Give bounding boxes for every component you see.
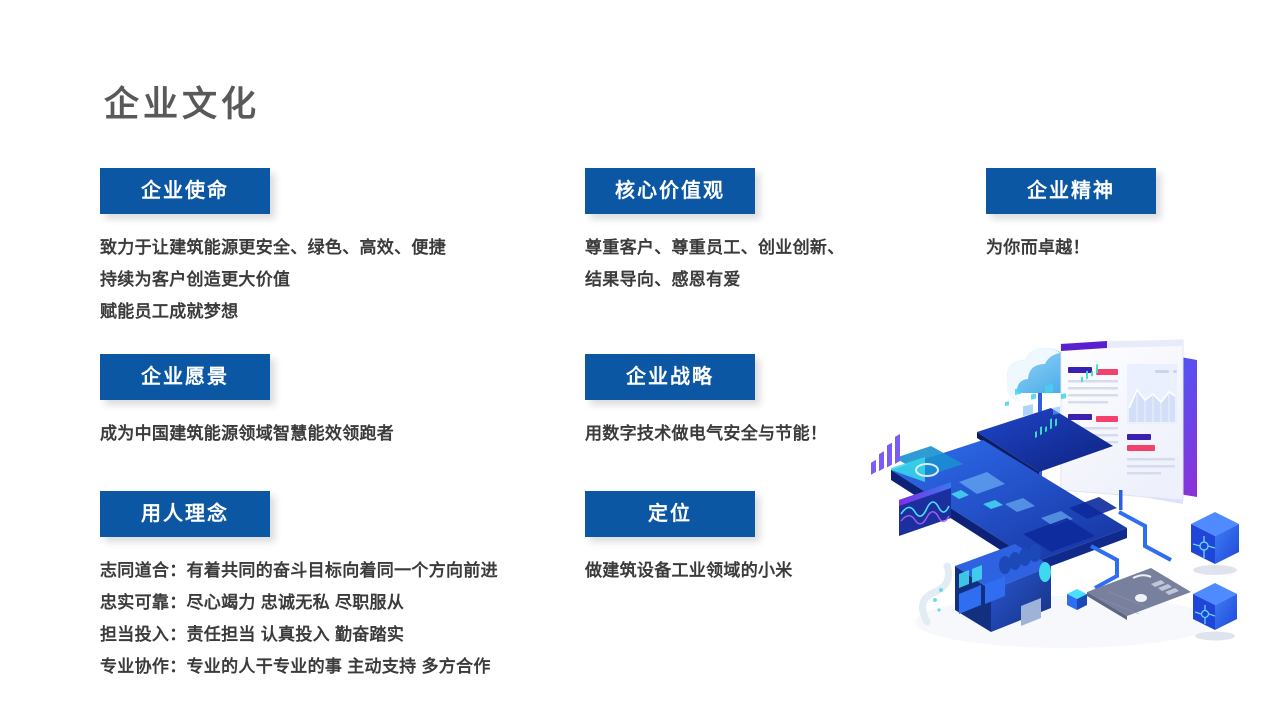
circuit-board-platform-main bbox=[891, 364, 1127, 572]
bar-chart bbox=[871, 434, 963, 482]
section-spirit-badge[interactable]: 企业精神 bbox=[986, 168, 1156, 214]
section-strategy-line-1: 用数字技术做电气安全与节能！ bbox=[585, 418, 827, 450]
screen-bottom-block bbox=[1127, 434, 1175, 475]
section-talent-text: 志同道合：有着共同的奋斗目标向着同一个方向前进 忠实可靠：尽心竭力 忠诚无私 尽… bbox=[100, 555, 498, 683]
analysis-detail bbox=[916, 383, 965, 476]
section-strategy: 企业战略 用数字技术做电气安全与节能！ bbox=[585, 354, 827, 450]
section-talent-line-1: 志同道合：有着共同的奋斗目标向着同一个方向前进 bbox=[100, 555, 498, 587]
slide-root: 企业文化 企业使命 致力于让建筑能源更安全、绿色、高效、便捷 持续为客户创造更大… bbox=[0, 0, 1280, 720]
network-glyph-lower bbox=[1195, 605, 1215, 624]
data-stream bbox=[923, 566, 949, 622]
screen-left-column bbox=[1068, 367, 1118, 451]
section-mission-line-1: 致力于让建筑能源更安全、绿色、高效、便捷 bbox=[100, 232, 446, 264]
section-spirit: 企业精神 为你而卓越！ bbox=[986, 168, 1156, 264]
section-mission-line-3: 赋能员工成就梦想 bbox=[100, 296, 446, 328]
section-mission-text: 致力于让建筑能源更安全、绿色、高效、便捷 持续为客户创造更大价值 赋能员工成就梦… bbox=[100, 232, 446, 328]
line-chart-panel bbox=[1127, 364, 1177, 424]
cloud-icon bbox=[1007, 348, 1081, 493]
glow-cube bbox=[1067, 589, 1087, 610]
section-values-line-1: 尊重客户、尊重员工、创业创新、 bbox=[585, 232, 845, 264]
section-vision-line-1: 成为中国建筑能源领域智慧能效领跑者 bbox=[100, 418, 394, 450]
mini-chart-2 bbox=[1081, 364, 1098, 383]
network-cube-upper bbox=[1191, 512, 1239, 575]
dashboard-screen bbox=[1061, 340, 1197, 510]
section-talent-badge[interactable]: 用人理念 bbox=[100, 491, 270, 537]
section-strategy-badge[interactable]: 企业战略 bbox=[585, 354, 755, 400]
section-positioning-text: 做建筑设备工业领域的小米 bbox=[585, 555, 793, 587]
section-spirit-line-1: 为你而卓越！ bbox=[986, 232, 1156, 264]
section-vision-badge[interactable]: 企业愿景 bbox=[100, 354, 270, 400]
server-modules bbox=[959, 565, 1005, 614]
section-mission: 企业使命 致力于让建筑能源更安全、绿色、高效、便捷 持续为客户创造更大价值 赋能… bbox=[100, 168, 446, 328]
section-strategy-text: 用数字技术做电气安全与节能！ bbox=[585, 418, 827, 450]
section-vision-text: 成为中国建筑能源领域智慧能效领跑者 bbox=[100, 418, 394, 450]
network-glyph-upper bbox=[1193, 536, 1215, 558]
waveform-chart bbox=[899, 482, 951, 536]
section-positioning: 定位 做建筑设备工业领域的小米 bbox=[585, 491, 793, 587]
section-talent-line-4: 专业协作：专业的人干专业的事 主动支持 多方合作 bbox=[100, 651, 498, 683]
section-values: 核心价值观 尊重客户、尊重员工、创业创新、 结果导向、感恩有爱 bbox=[585, 168, 845, 296]
section-vision: 企业愿景 成为中国建筑能源领域智慧能效领跑者 bbox=[100, 354, 394, 450]
network-cube-lower bbox=[1193, 583, 1237, 641]
section-mission-line-2: 持续为客户创造更大价值 bbox=[100, 264, 446, 296]
section-talent-line-2: 忠实可靠：尽心竭力 忠诚无私 尽职服从 bbox=[100, 587, 498, 619]
section-values-text: 尊重客户、尊重员工、创业创新、 结果导向、感恩有爱 bbox=[585, 232, 845, 296]
section-values-line-2: 结果导向、感恩有爱 bbox=[585, 264, 845, 296]
server-fans bbox=[999, 544, 1051, 582]
page-title: 企业文化 bbox=[104, 84, 260, 126]
section-talent-line-3: 担当投入：责任担当 认真投入 勤奋踏实 bbox=[100, 619, 498, 651]
isometric-cloud-data-platform-illustration bbox=[855, 322, 1280, 672]
section-talent: 用人理念 志同道合：有着共同的奋斗目标向着同一个方向前进 忠实可靠：尽心竭力 忠… bbox=[100, 491, 498, 683]
circuit-board-platform-upper bbox=[977, 384, 1113, 478]
connector-pipes bbox=[1091, 512, 1171, 588]
section-positioning-badge[interactable]: 定位 bbox=[585, 491, 755, 537]
keyboard-panel bbox=[1087, 568, 1191, 620]
mini-chart-1 bbox=[1035, 418, 1057, 438]
section-mission-badge[interactable]: 企业使命 bbox=[100, 168, 270, 214]
server-rack bbox=[955, 544, 1051, 632]
illustration-shadows bbox=[915, 596, 1215, 648]
section-positioning-line-1: 做建筑设备工业领域的小米 bbox=[585, 555, 793, 587]
section-spirit-text: 为你而卓越！ bbox=[986, 232, 1156, 264]
section-values-badge[interactable]: 核心价值观 bbox=[585, 168, 755, 214]
